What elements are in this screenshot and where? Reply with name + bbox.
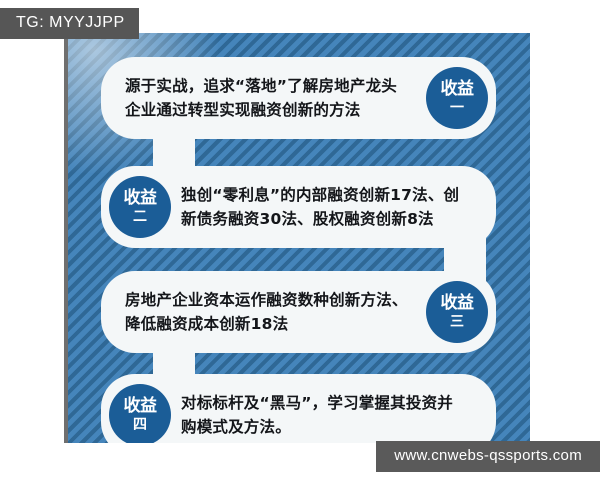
benefit-card-3-line-1: 房地产企业资本运作融资数种创新方法、 xyxy=(125,288,420,312)
benefit-card-2-line-1: 独创“零利息”的内部融资创新17法、创 xyxy=(181,183,472,207)
benefit-badge-1-number: 一 xyxy=(450,101,464,115)
benefit-card-1: 源于实战，追求“落地”了解房地产龙头 企业通过转型实现融资创新的方法 收益 一 xyxy=(101,57,496,139)
benefit-card-1-text: 源于实战，追求“落地”了解房地产龙头 企业通过转型实现融资创新的方法 xyxy=(125,74,420,123)
benefit-badge-3-number: 三 xyxy=(450,315,464,329)
benefit-card-4-line-2: 购模式及方法。 xyxy=(181,415,472,439)
benefit-card-2-text: 独创“零利息”的内部融资创新17法、创 新债务融资30法、股权融资创新8法 xyxy=(181,183,472,232)
benefit-badge-2-label: 收益 xyxy=(124,190,157,207)
benefit-badge-1: 收益 一 xyxy=(426,67,488,129)
benefit-badge-3-label: 收益 xyxy=(441,295,474,312)
benefit-badge-4-label: 收益 xyxy=(124,398,157,415)
benefit-badge-4: 收益 四 xyxy=(109,384,171,443)
poster-panel: 源于实战，追求“落地”了解房地产龙头 企业通过转型实现融资创新的方法 收益 一 … xyxy=(68,33,530,443)
benefit-badge-4-number: 四 xyxy=(133,418,147,432)
benefit-card-1-line-1: 源于实战，追求“落地”了解房地产龙头 xyxy=(125,74,420,98)
benefit-badge-2: 收益 二 xyxy=(109,176,171,238)
benefit-card-4-line-1: 对标标杆及“黑马”，学习掌握其投资并 xyxy=(181,391,472,415)
tg-channel-tag: TG: MYYJJPP xyxy=(0,8,139,39)
benefit-card-4-text: 对标标杆及“黑马”，学习掌握其投资并 购模式及方法。 xyxy=(181,391,472,440)
benefit-card-2: 收益 二 独创“零利息”的内部融资创新17法、创 新债务融资30法、股权融资创新… xyxy=(101,166,496,248)
benefit-card-3: 房地产企业资本运作融资数种创新方法、 降低融资成本创新18法 收益 三 xyxy=(101,271,496,353)
benefit-badge-3: 收益 三 xyxy=(426,281,488,343)
benefit-card-3-text: 房地产企业资本运作融资数种创新方法、 降低融资成本创新18法 xyxy=(125,288,420,337)
benefit-badge-2-number: 二 xyxy=(133,210,147,224)
site-watermark: www.cnwebs-qssports.com xyxy=(376,441,600,473)
benefit-card-4: 收益 四 对标标杆及“黑马”，学习掌握其投资并 购模式及方法。 xyxy=(101,374,496,443)
benefit-card-1-line-2: 企业通过转型实现融资创新的方法 xyxy=(125,98,420,122)
benefit-card-3-line-2: 降低融资成本创新18法 xyxy=(125,312,420,336)
benefit-card-2-line-2: 新债务融资30法、股权融资创新8法 xyxy=(181,207,472,231)
benefit-badge-1-label: 收益 xyxy=(441,81,474,98)
